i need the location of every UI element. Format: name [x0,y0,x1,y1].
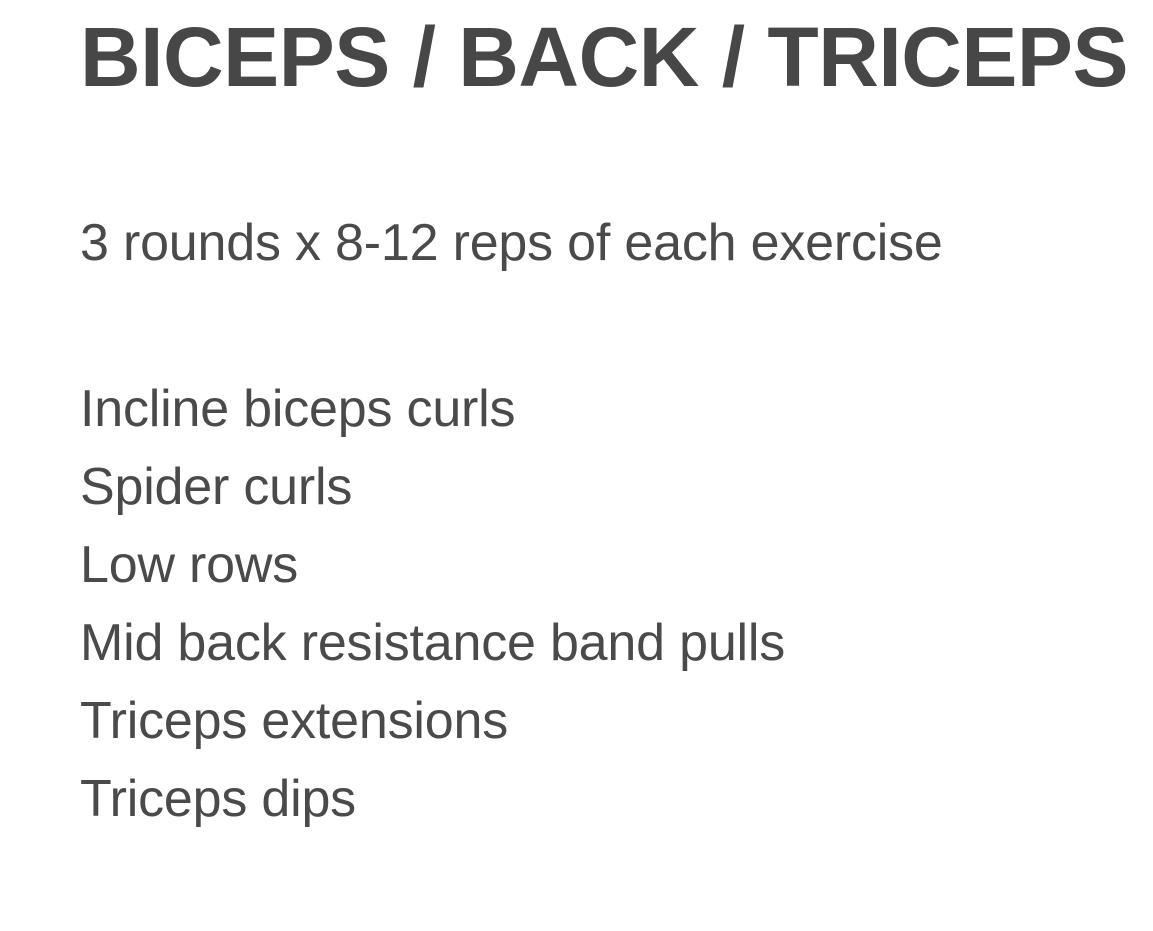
list-item: Incline biceps curls [80,370,785,448]
list-item: Triceps extensions [80,682,785,760]
workout-document: BICEPS / BACK / TRICEPS 3 rounds x 8-12 … [0,0,1153,931]
list-item: Triceps dips [80,760,785,838]
list-item: Spider curls [80,448,785,526]
page-title: BICEPS / BACK / TRICEPS [80,11,1128,103]
list-item: Mid back resistance band pulls [80,604,785,682]
exercise-list: Incline biceps curls Spider curls Low ro… [80,370,785,838]
workout-prescription-text: 3 rounds x 8-12 reps of each exercise [80,211,943,275]
list-item: Low rows [80,526,785,604]
